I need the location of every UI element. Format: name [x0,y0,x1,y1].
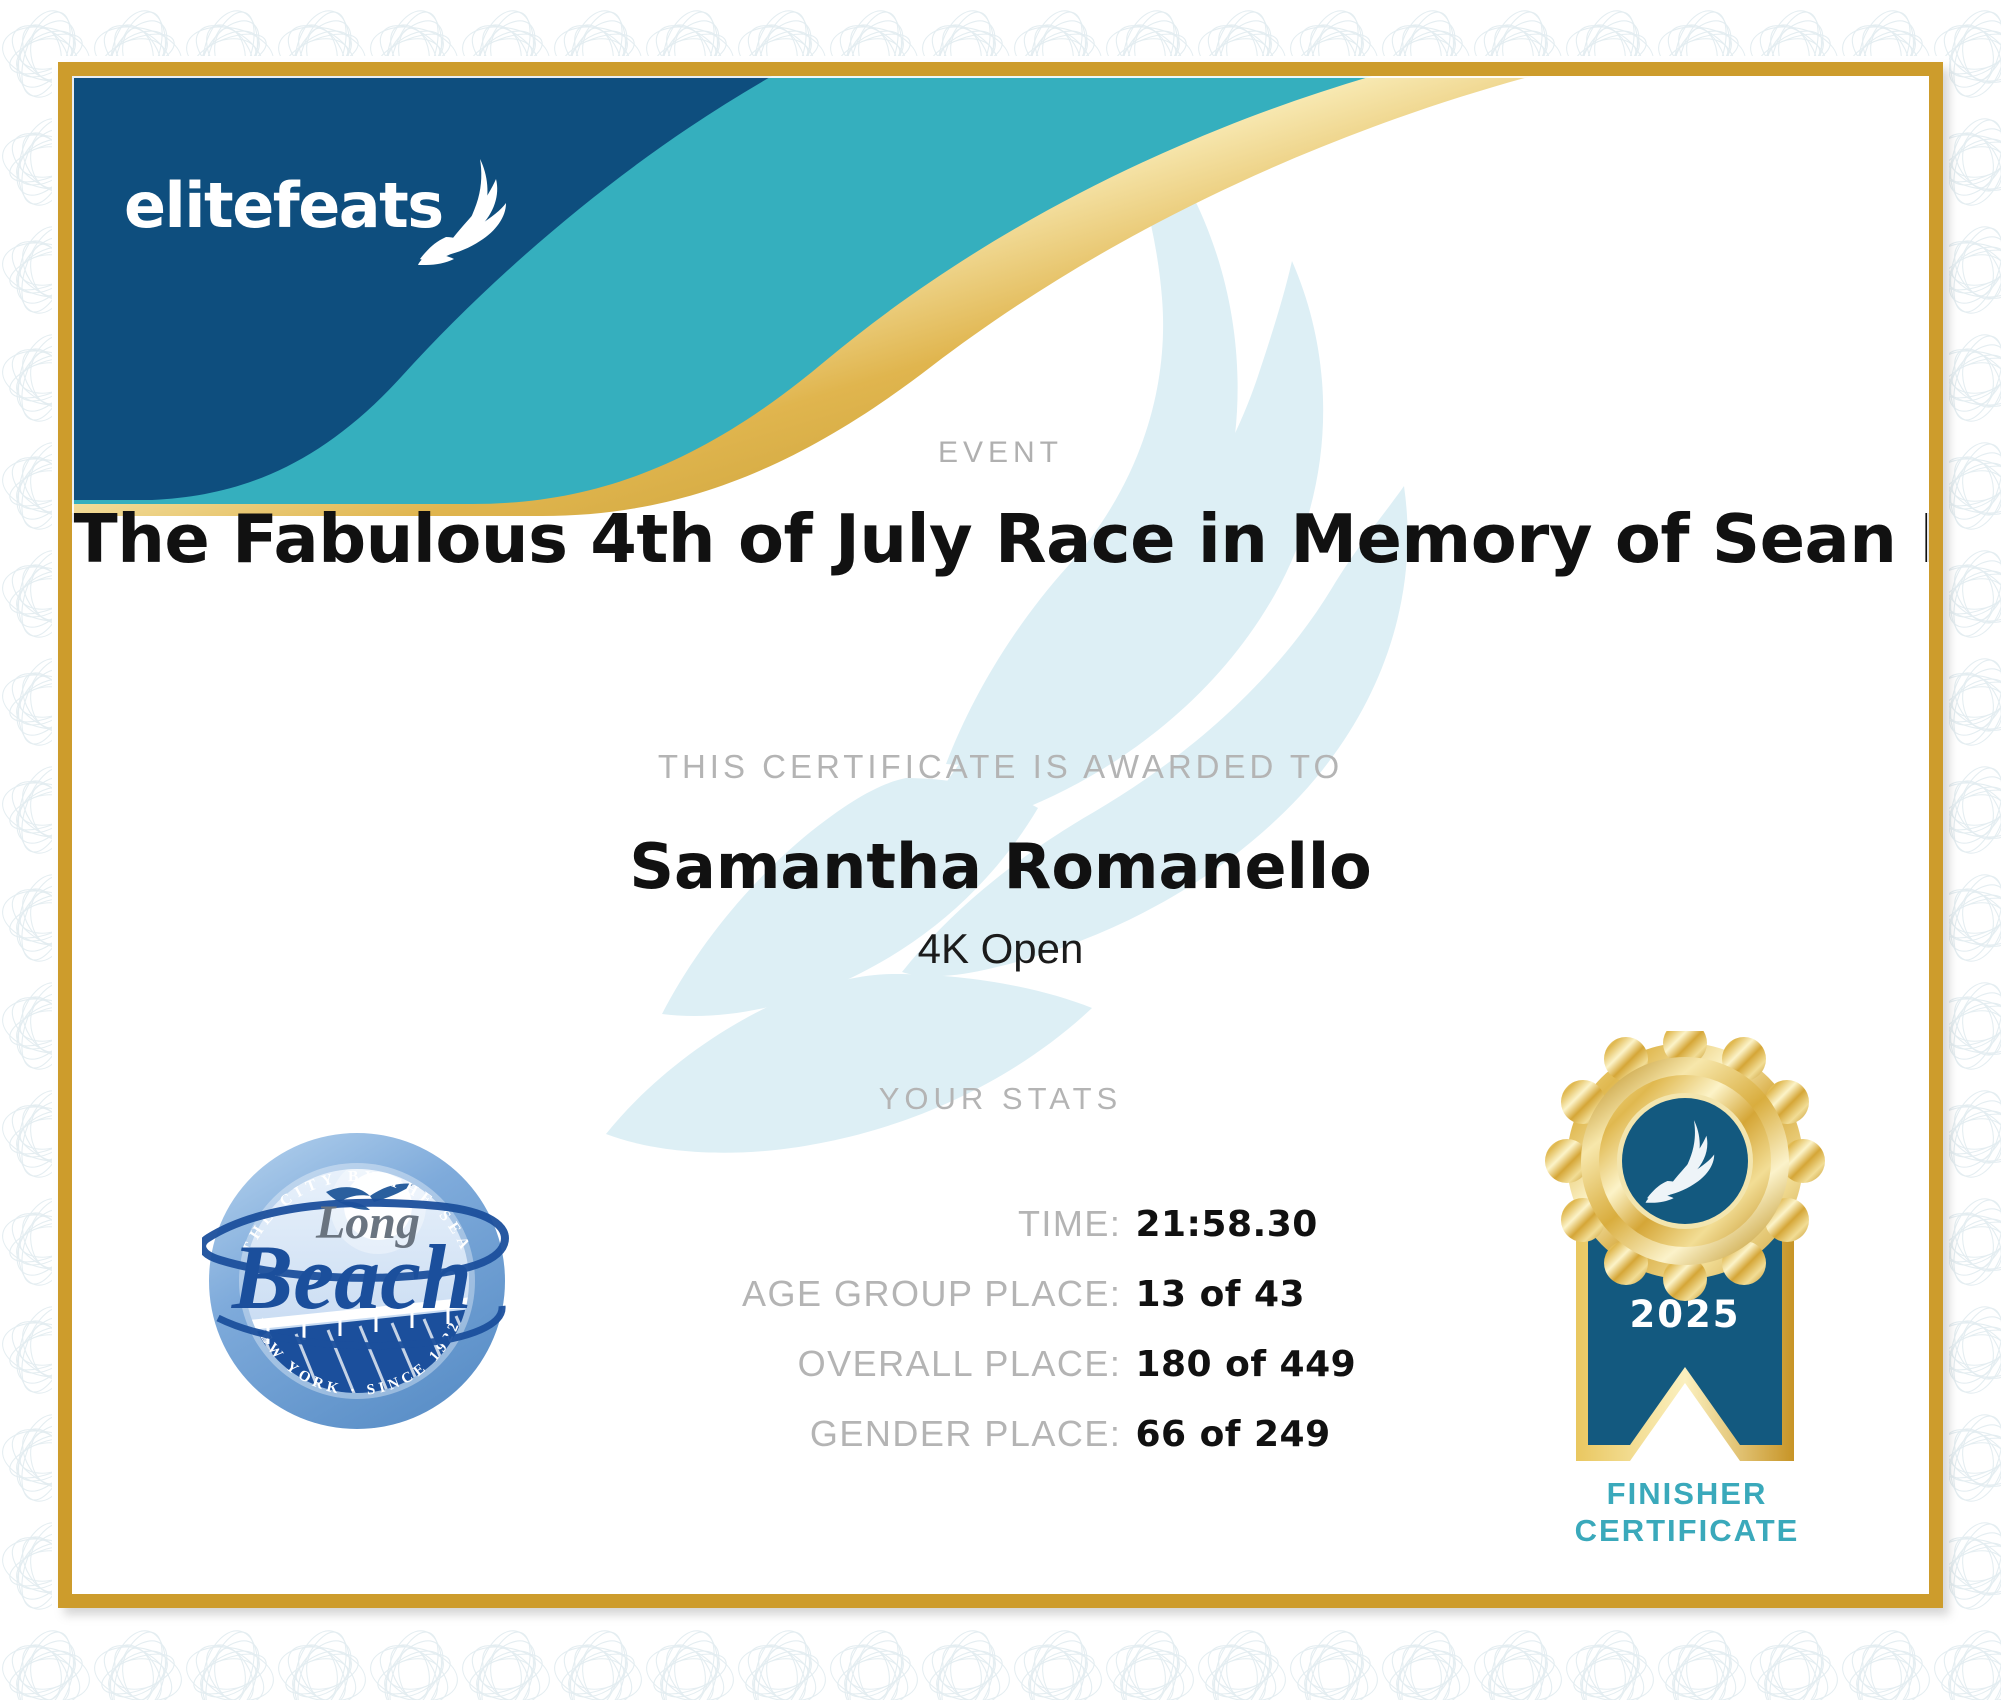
certificate-frame: elitefeats EVENT The Fabulous 4th of Jul… [58,62,1943,1608]
stat-value-overall-place: 180 of 449 [1135,1329,1480,1399]
long-beach-seal: THE CITY BY THE SEA NEW YORK · SINCE 192… [202,1126,512,1436]
medal-caption-line1: FINISHER [1492,1476,1882,1513]
certificate-page: elitefeats EVENT The Fabulous 4th of Jul… [0,0,2001,1700]
medal-caption: FINISHER CERTIFICATE [1492,1476,1882,1549]
stat-value-gender-place: 66 of 249 [1135,1399,1480,1469]
finisher-medal: 2025 [1540,1031,1830,1461]
stat-row-gender-place: GENDER PLACE: 66 of 249 [521,1399,1481,1469]
division-label: 4K Open [72,925,1929,973]
seal-script-beach: Beach [231,1226,472,1328]
stat-row-age-group-place: AGE GROUP PLACE: 13 of 43 [521,1259,1481,1329]
stat-row-overall-place: OVERALL PLACE: 180 of 449 [521,1329,1481,1399]
recipient-name: Samantha Romanello [72,830,1929,903]
stat-row-time: TIME: 21:58.30 [521,1189,1481,1259]
stat-value-time: 21:58.30 [1135,1189,1480,1259]
event-title: The Fabulous 4th of July Race in Memory … [72,500,1929,578]
stat-label-overall-place: OVERALL PLACE: [521,1329,1136,1399]
stats-table: TIME: 21:58.30 AGE GROUP PLACE: 13 of 43… [521,1189,1481,1469]
stat-label-age-group-place: AGE GROUP PLACE: [521,1259,1136,1329]
winged-foot-icon [416,155,508,265]
stat-value-age-group-place: 13 of 43 [1135,1259,1480,1329]
elitefeats-logo: elitefeats [124,161,514,271]
medal-caption-line2: CERTIFICATE [1492,1513,1882,1550]
brand-wordmark: elitefeats [124,169,443,242]
event-eyebrow: EVENT [72,436,1929,470]
stat-label-gender-place: GENDER PLACE: [521,1399,1136,1469]
stat-label-time: TIME: [521,1189,1136,1259]
awarded-to-eyebrow: THIS CERTIFICATE IS AWARDED TO [72,748,1929,786]
